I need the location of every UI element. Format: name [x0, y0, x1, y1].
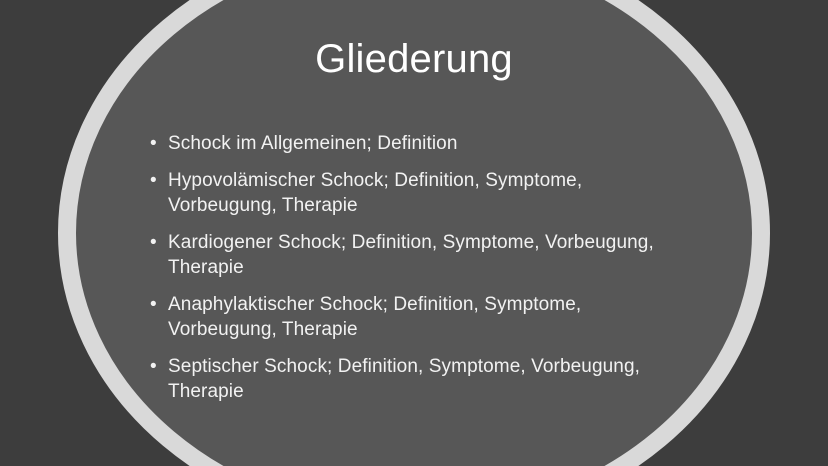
slide-bullet-list: • Schock im Allgemeinen; Definition • Hy… [150, 131, 680, 404]
bullet-dot-icon: • [150, 230, 168, 255]
bullet-dot-icon: • [150, 292, 168, 317]
list-item: • Septischer Schock; Definition, Symptom… [150, 354, 680, 404]
bullet-dot-icon: • [150, 131, 168, 156]
list-item: • Schock im Allgemeinen; Definition [150, 131, 680, 156]
list-item: • Anaphylaktischer Schock; Definition, S… [150, 292, 680, 342]
list-item-label: Hypovolämischer Schock; Definition, Symp… [168, 168, 680, 218]
list-item: • Kardiogener Schock; Definition, Sympto… [150, 230, 680, 280]
presentation-slide: Gliederung • Schock im Allgemeinen; Defi… [0, 0, 828, 466]
list-item-label: Septischer Schock; Definition, Symptome,… [168, 354, 680, 404]
list-item: • Hypovolämischer Schock; Definition, Sy… [150, 168, 680, 218]
list-item-label: Anaphylaktischer Schock; Definition, Sym… [168, 292, 680, 342]
list-item-label: Kardiogener Schock; Definition, Symptome… [168, 230, 680, 280]
slide-title-text: Gliederung [315, 36, 513, 82]
bullet-dot-icon: • [150, 168, 168, 193]
bullet-dot-icon: • [150, 354, 168, 379]
list-item-label: Schock im Allgemeinen; Definition [168, 131, 680, 156]
slide-title: Gliederung [0, 36, 828, 82]
